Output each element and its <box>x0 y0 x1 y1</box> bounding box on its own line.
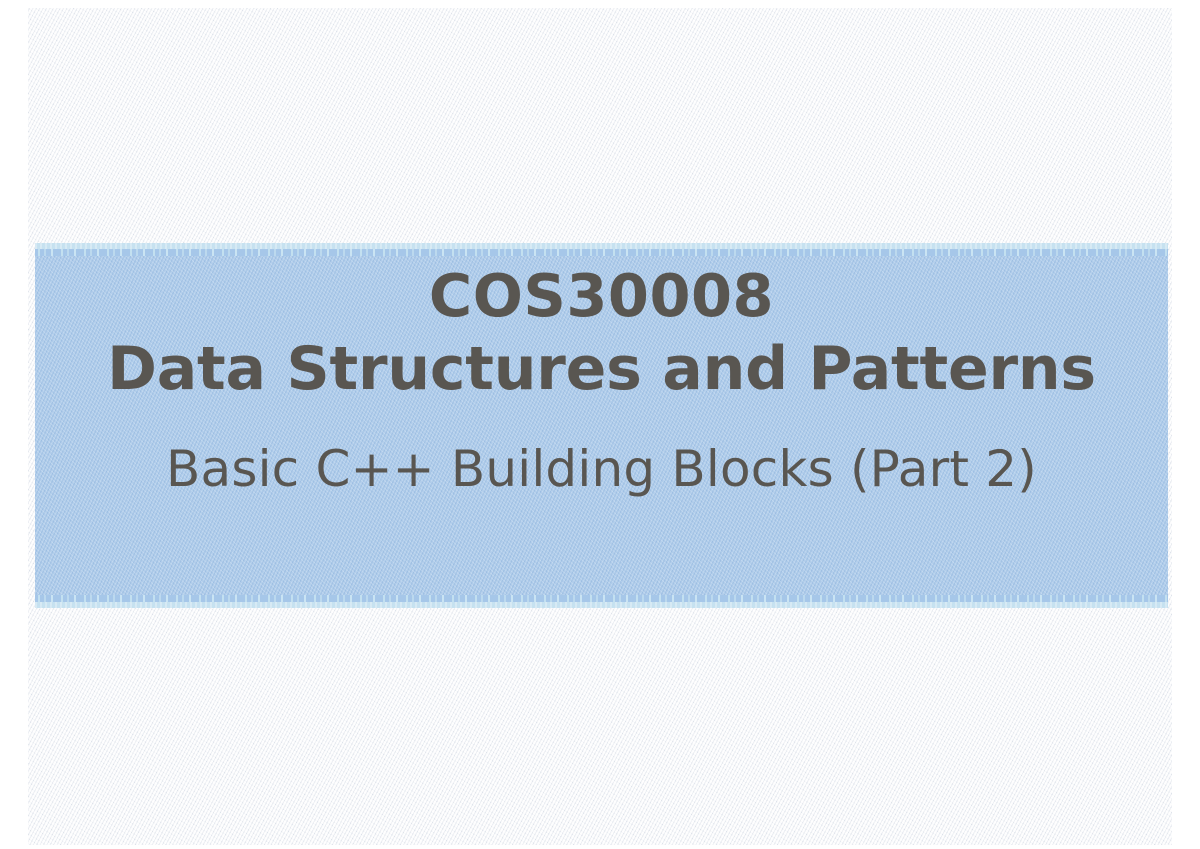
slide-page: COS30008 Data Structures and Patterns Ba… <box>0 0 1200 849</box>
slide-canvas: COS30008 Data Structures and Patterns Ba… <box>28 8 1172 845</box>
course-code-title: COS30008 <box>429 265 774 326</box>
course-name-title: Data Structures and Patterns <box>107 338 1096 400</box>
title-band: COS30008 Data Structures and Patterns Ba… <box>35 243 1168 608</box>
lecture-subtitle: Basic C++ Building Blocks (Part 2) <box>166 443 1037 496</box>
title-block: COS30008 Data Structures and Patterns Ba… <box>35 243 1168 608</box>
